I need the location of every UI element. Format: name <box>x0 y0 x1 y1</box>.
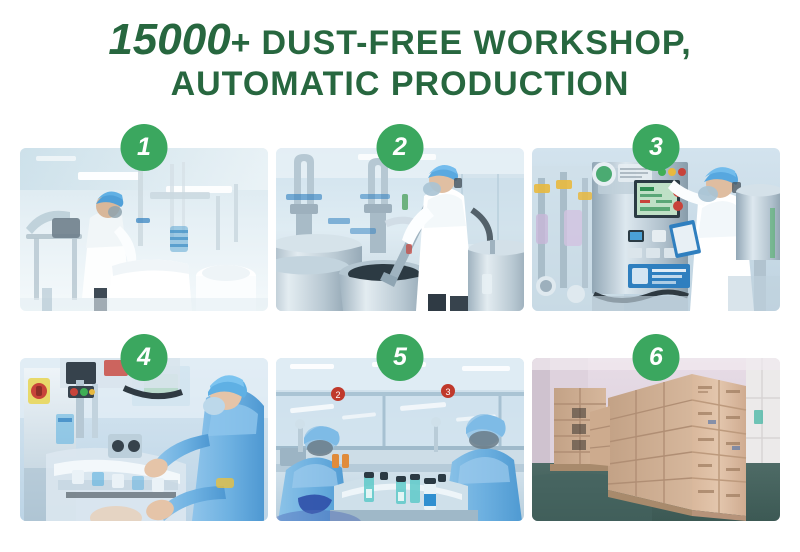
photo-image-5: 2 3 <box>276 358 524 521</box>
photo-tile-2[interactable]: 2 <box>276 148 524 311</box>
title-line-1: 15000+ DUST-FREE WORKSHOP, <box>0 16 800 64</box>
photo-grid: 1 <box>20 148 780 521</box>
svg-text:3: 3 <box>445 387 450 397</box>
tile-badge-1: 1 <box>121 124 168 171</box>
page-title: 15000+ DUST-FREE WORKSHOP, AUTOMATIC PRO… <box>0 16 800 102</box>
photo-image-2 <box>276 148 524 311</box>
photo-tile-5[interactable]: 2 3 <box>276 358 524 521</box>
tile-badge-5: 5 <box>377 334 424 381</box>
photo-tile-3[interactable]: 3 <box>532 148 780 311</box>
photo-tile-4[interactable]: 4 <box>20 358 268 521</box>
photo-image-3 <box>532 148 780 311</box>
tile-badge-2: 2 <box>377 124 424 171</box>
title-line-2: AUTOMATIC PRODUCTION <box>0 66 800 103</box>
title-plus: + <box>231 24 251 62</box>
photo-image-1 <box>20 148 268 311</box>
photo-image-6 <box>532 358 780 521</box>
tile-badge-6: 6 <box>633 334 680 381</box>
title-number: 15000 <box>108 15 230 64</box>
promo-banner: 15000+ DUST-FREE WORKSHOP, AUTOMATIC PRO… <box>0 0 800 552</box>
photo-tile-6[interactable]: 6 <box>532 358 780 521</box>
tile-badge-4: 4 <box>121 334 168 381</box>
photo-tile-1[interactable]: 1 <box>20 148 268 311</box>
tile-badge-3: 3 <box>633 124 680 171</box>
title-line-1-rest: DUST-FREE WORKSHOP, <box>251 24 692 62</box>
svg-text:2: 2 <box>335 390 340 400</box>
photo-image-4 <box>20 358 268 521</box>
